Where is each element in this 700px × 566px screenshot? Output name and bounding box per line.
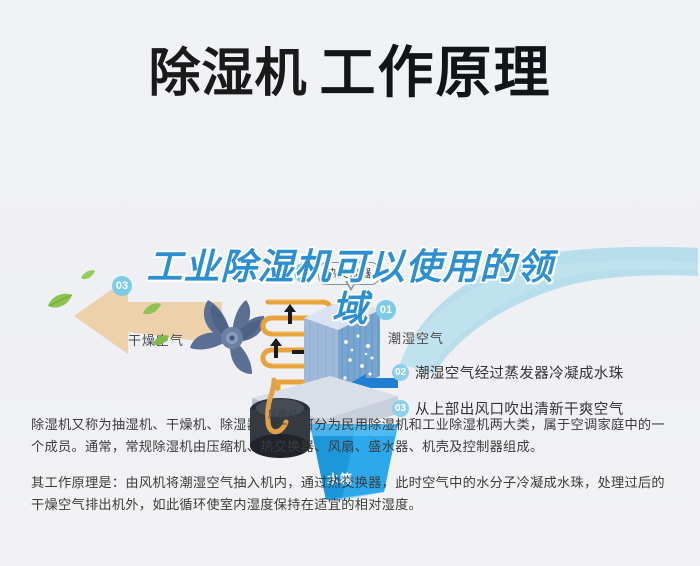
humid-air-flow-band (398, 246, 698, 376)
dehumidifier-diagram: 干燥空气 潮湿空气 (0, 118, 700, 400)
leaf-icon (80, 268, 96, 286)
page-title-part2: 工作原理 (320, 41, 552, 104)
legend-badge: 02 (392, 364, 409, 381)
body-paragraph-1: 除湿机又称为抽湿机、干燥机、除湿器，一般可分为民用除湿机和工业除湿机两大类，属于… (31, 414, 671, 458)
leaf-icon (152, 334, 170, 352)
heat-exchanger-callout-text: 热交换器 (326, 268, 372, 280)
badge-01: 01 (376, 300, 396, 320)
badge-03: 03 (112, 276, 132, 296)
page-root: 除湿机工作原理 干燥空气 潮湿空气 (0, 0, 700, 566)
body-copy: 除湿机又称为抽湿机、干燥机、除湿器，一般可分为民用除湿机和工业除湿机两大类，属于… (31, 414, 671, 528)
leaf-icon (142, 302, 162, 321)
page-title: 除湿机工作原理 (0, 28, 700, 109)
legend-item: 02 潮湿空气经过蒸发器冷凝成水珠 (392, 362, 692, 383)
legend-item-label: 潮湿空气经过蒸发器冷凝成水珠 (415, 362, 624, 383)
body-paragraph-2: 其工作原理是：由风机将潮湿空气抽入机内，通过热交换器，此时空气中的水分子冷凝成水… (31, 472, 671, 516)
humid-air-label: 潮湿空气 (388, 328, 444, 347)
page-title-part1: 除湿机 (148, 45, 307, 103)
heat-exchanger-callout-pointer (345, 281, 357, 291)
leaf-icon (46, 292, 74, 315)
badge-02: 02 (294, 263, 314, 283)
